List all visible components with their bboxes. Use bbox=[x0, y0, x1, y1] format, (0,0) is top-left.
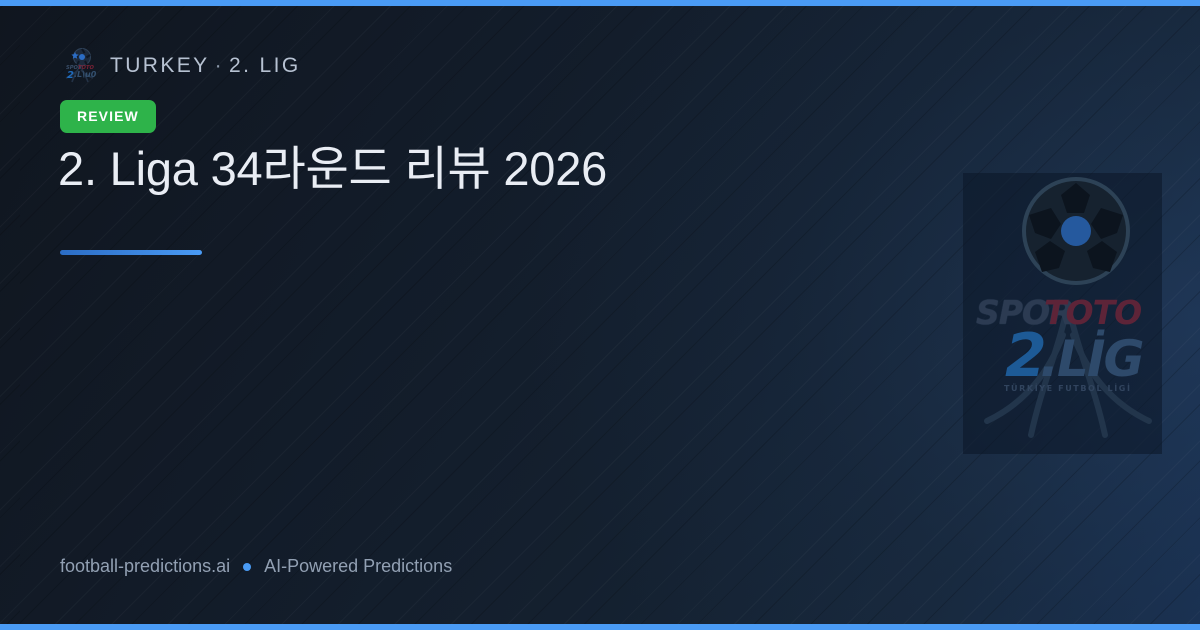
svg-text:2: 2 bbox=[67, 70, 74, 81]
sportoto-2lig-logo: SPOR TOTO 2 .LİG TÜRKİYE FUTBOL LİGİ bbox=[963, 173, 1162, 454]
league-breadcrumb-text: TURKEY·2. LIG bbox=[110, 54, 301, 78]
page-title: 2. Liga 34라운드 리뷰 2026 bbox=[58, 141, 918, 196]
bottom-accent-bar bbox=[0, 624, 1200, 630]
logo-wordmark-toto: TOTO bbox=[1044, 293, 1141, 332]
country-label: TURKEY bbox=[110, 54, 210, 77]
logo-wordmark-number: 2 bbox=[1005, 321, 1044, 391]
footer: football-predictions.ai AI-Powered Predi… bbox=[60, 556, 452, 577]
logo-wordmark-subtitle: TÜRKİYE FUTBOL LİGİ bbox=[1004, 384, 1132, 393]
turkey-2lig-crest-icon: SPOR TOTO 2 .L\u0130G bbox=[60, 46, 96, 86]
social-share-card: SPOR TOTO 2 .L\u0130G TURKEY·2. LIG REVI… bbox=[0, 0, 1200, 630]
blue-dot-icon bbox=[243, 563, 251, 571]
league-label: 2. LIG bbox=[229, 54, 301, 77]
logo-wordmark-lig: .LİG bbox=[1040, 330, 1143, 388]
site-name: football-predictions.ai bbox=[60, 556, 230, 577]
title-underline-rule bbox=[60, 250, 202, 255]
status-badge: REVIEW bbox=[60, 100, 156, 133]
svg-text:.L\u0130G: .L\u0130G bbox=[74, 70, 96, 79]
footer-tagline: AI-Powered Predictions bbox=[264, 556, 452, 577]
breadcrumb-separator: · bbox=[210, 54, 229, 77]
league-breadcrumb: SPOR TOTO 2 .L\u0130G TURKEY·2. LIG bbox=[60, 46, 301, 86]
top-accent-bar bbox=[0, 0, 1200, 6]
